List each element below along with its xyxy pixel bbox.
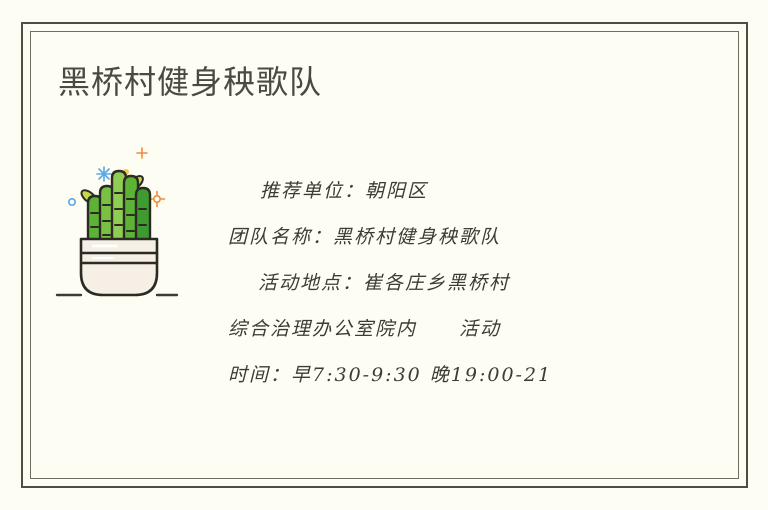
- info-card: 黑桥村健身秧歌队: [0, 0, 768, 510]
- info-line-recommending-unit: 推荐单位：朝阳区: [228, 168, 658, 214]
- snowflake-sparkle-icon: [97, 167, 111, 181]
- flower-pot: [81, 239, 157, 295]
- info-line-activity-location: 活动地点：崔各庄乡黑桥村: [228, 260, 658, 306]
- info-line-team-name: 团队名称：黑桥村健身秧歌队: [228, 214, 658, 260]
- ring-sparkle-icon: [69, 199, 75, 205]
- info-block: 推荐单位：朝阳区 团队名称：黑桥村健身秧歌队 活动地点：崔各庄乡黑桥村 综合治理…: [228, 168, 658, 398]
- flower-sparkle-icon: [150, 192, 165, 207]
- page-title: 黑桥村健身秧歌队: [58, 60, 322, 104]
- plus-sparkle-icon: [137, 148, 147, 158]
- cactus-in-pot-illustration: [55, 143, 215, 308]
- info-line-activity-time: 时间：早7:30-9:30 晚19:00-21: [228, 352, 658, 398]
- info-line-activity-location-continued: 综合治理办公室院内 活动: [228, 306, 658, 352]
